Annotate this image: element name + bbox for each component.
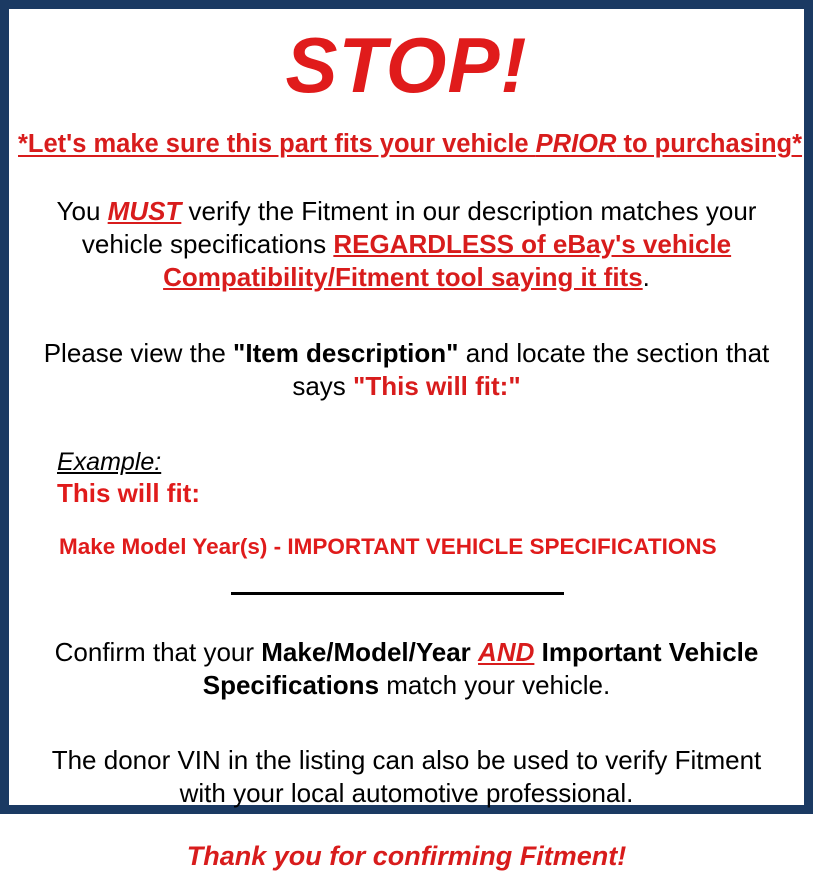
example-this-will-fit: This will fit: <box>57 479 795 509</box>
stop-headline: STOP! <box>18 26 795 104</box>
subtitle-trail-text: to purchasing* <box>616 130 802 158</box>
example-block: Example: This will fit: Make Model Year(… <box>18 448 795 561</box>
subtitle-prior-emphasis: PRIOR <box>536 130 617 158</box>
this-will-fit-quote: "This will fit:" <box>353 371 521 401</box>
must-paragraph-seg1: You <box>57 196 108 226</box>
confirm-space-1 <box>471 637 478 667</box>
confirm-space-2 <box>534 637 541 667</box>
must-emphasis: MUST <box>108 196 182 226</box>
fitment-notice-card: STOP! *Let's make sure this part fits yo… <box>0 0 813 814</box>
item-description-paragraph: Please view the "Item description" and l… <box>18 337 795 403</box>
closing-thanks: Thank you for confirming Fitment! <box>18 842 795 872</box>
must-verify-paragraph: You MUST verify the Fitment in our descr… <box>18 195 795 293</box>
section-divider <box>231 592 564 595</box>
confirm-paragraph: Confirm that your Make/Model/Year AND Im… <box>18 636 795 702</box>
example-label: Example: <box>57 448 161 477</box>
donor-vin-paragraph: The donor VIN in the listing can also be… <box>18 744 795 810</box>
notice-content: STOP! *Let's make sure this part fits yo… <box>9 26 804 822</box>
subtitle-lead-text: *Let's make sure this part fits your veh… <box>18 130 536 158</box>
confirm-seg1: Confirm that your <box>55 637 262 667</box>
must-paragraph-seg3: . <box>643 262 650 292</box>
example-specification-line: Make Model Year(s) - IMPORTANT VEHICLE S… <box>57 534 795 560</box>
example-label-row: Example: <box>57 448 795 477</box>
item-description-label: "Item description" <box>233 338 458 368</box>
make-model-year-emphasis: Make/Model/Year <box>261 637 471 667</box>
itemdesc-seg1: Please view the <box>44 338 233 368</box>
confirm-seg2: match your vehicle. <box>379 670 610 700</box>
divider-wrapper <box>18 592 795 596</box>
and-emphasis: AND <box>478 637 534 667</box>
fitment-subtitle: *Let's make sure this part fits your veh… <box>18 130 795 158</box>
